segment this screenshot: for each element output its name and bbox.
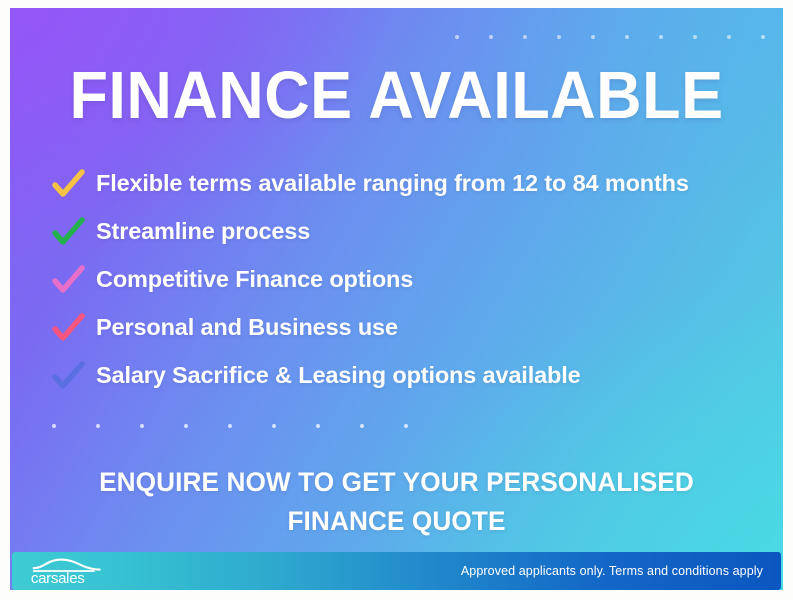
promotional-banner: FINANCE AVAILABLE Flexible terms availab… [0,0,793,600]
checkmark-icon [48,356,88,396]
dot [761,35,765,39]
checkmark-icon [48,212,88,252]
dot [625,35,629,39]
banner-background: FINANCE AVAILABLE Flexible terms availab… [10,8,783,590]
decorative-dot-row-middle [52,424,408,428]
list-item: Salary Sacrifice & Leasing options avail… [48,352,778,400]
checkmark-icon [48,260,88,300]
list-item-label: Flexible terms available ranging from 12… [96,171,689,197]
dot [591,35,595,39]
dot [228,424,232,428]
dot [693,35,697,39]
list-item-label: Salary Sacrifice & Leasing options avail… [96,363,581,389]
carsales-logo: carsales [28,557,114,585]
list-item: Flexible terms available ranging from 12… [48,160,778,208]
dot [184,424,188,428]
dot [272,424,276,428]
dot [96,424,100,428]
list-item: Personal and Business use [48,304,778,352]
dot [557,35,561,39]
dot [140,424,144,428]
call-to-action: ENQUIRE NOW TO GET YOUR PERSONALISED FIN… [10,463,783,541]
headline: FINANCE AVAILABLE [33,62,760,129]
dot [404,424,408,428]
dot [316,424,320,428]
list-item-label: Competitive Finance options [96,267,413,293]
dot [489,35,493,39]
dot [523,35,527,39]
checkmark-icon [48,164,88,204]
list-item-label: Streamline process [96,219,310,245]
benefits-list: Flexible terms available ranging from 12… [48,160,778,400]
dot [455,35,459,39]
checkmark-icon [48,308,88,348]
decorative-dot-row-top [455,35,765,39]
cta-line-2: FINANCE QUOTE [22,502,772,541]
svg-text:carsales: carsales [31,570,85,585]
list-item-label: Personal and Business use [96,315,398,341]
footer-bar: carsales Approved applicants only. Terms… [12,552,781,590]
disclaimer-text: Approved applicants only. Terms and cond… [461,564,763,578]
dot [659,35,663,39]
cta-line-1: ENQUIRE NOW TO GET YOUR PERSONALISED [22,463,772,502]
dot [727,35,731,39]
dot [360,424,364,428]
dot [52,424,56,428]
list-item: Competitive Finance options [48,256,778,304]
list-item: Streamline process [48,208,778,256]
